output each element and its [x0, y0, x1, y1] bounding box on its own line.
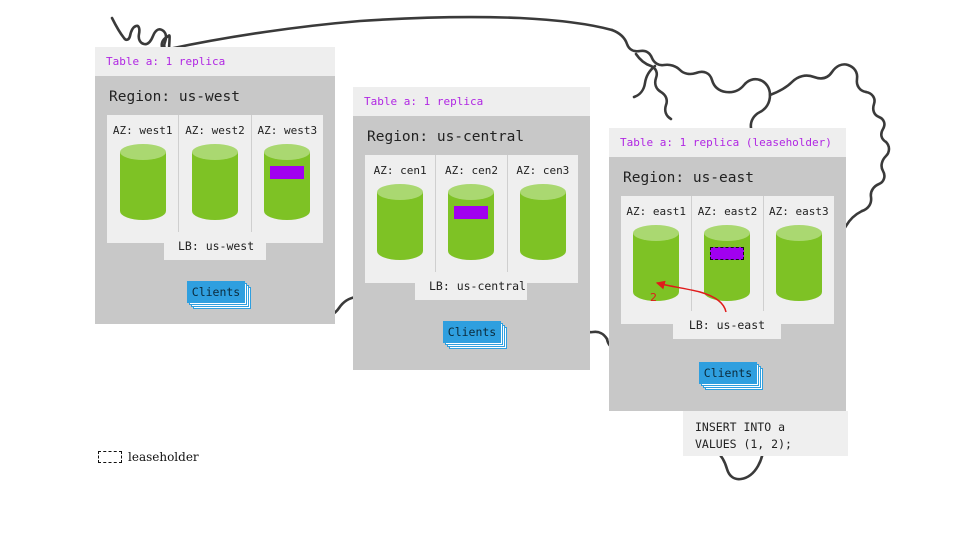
- load-balancer-us-west[interactable]: LB: us-west: [164, 232, 266, 260]
- cylinder-top: [633, 225, 679, 241]
- clients-label-us-central: Clients: [443, 321, 501, 343]
- region-header-us-central: Table a: 1 replica: [353, 87, 590, 116]
- az-cell-west2[interactable]: AZ: west2: [178, 115, 250, 243]
- cylinder-body: [448, 192, 494, 260]
- az-label-west2: AZ: west2: [179, 124, 250, 137]
- cylinder-body: [377, 192, 423, 260]
- node-cylinder-west1[interactable]: [120, 144, 166, 220]
- cylinder-body: [776, 233, 822, 301]
- az-label-east2: AZ: east2: [692, 205, 762, 218]
- region-header-us-west: Table a: 1 replica: [95, 47, 335, 76]
- az-label-west1: AZ: west1: [107, 124, 178, 137]
- az-label-cen3: AZ: cen3: [508, 164, 578, 177]
- cylinder-top: [264, 144, 310, 160]
- replica-bar-cen2: [454, 206, 488, 219]
- region-header-us-east: Table a: 1 replica (leaseholder): [609, 128, 846, 157]
- node-cylinder-east3[interactable]: [776, 225, 822, 301]
- az-label-east3: AZ: east3: [764, 205, 834, 218]
- az-label-east1: AZ: east1: [621, 205, 691, 218]
- az-cell-cen3[interactable]: AZ: cen3: [507, 155, 578, 283]
- az-cell-east3[interactable]: AZ: east3: [763, 196, 834, 324]
- diagram-canvas: Table a: 1 replica Region: us-west AZ: w…: [0, 0, 960, 540]
- az-cell-east1[interactable]: AZ: east1: [621, 196, 691, 324]
- load-balancer-us-central[interactable]: LB: us-central: [415, 272, 527, 300]
- node-cylinder-east2[interactable]: [704, 225, 750, 301]
- az-label-cen1: AZ: cen1: [365, 164, 435, 177]
- az-strip-us-west: AZ: west1 AZ: west2 AZ: west3: [107, 115, 323, 243]
- legend-label: leaseholder: [128, 450, 199, 464]
- node-cylinder-cen2[interactable]: [448, 184, 494, 260]
- az-label-west3: AZ: west3: [252, 124, 323, 137]
- az-cell-west3[interactable]: AZ: west3: [251, 115, 323, 243]
- cylinder-top: [192, 144, 238, 160]
- clients-us-east[interactable]: Clients: [699, 362, 757, 384]
- dashed-rect-swatch-icon: [98, 451, 122, 463]
- node-cylinder-west3[interactable]: [264, 144, 310, 220]
- sql-statement-note: INSERT INTO a VALUES (1, 2);: [683, 411, 848, 456]
- clients-us-central[interactable]: Clients: [443, 321, 501, 343]
- legend-leaseholder: leaseholder: [98, 450, 199, 464]
- az-cell-east2[interactable]: AZ: east2: [691, 196, 762, 324]
- node-cylinder-cen1[interactable]: [377, 184, 423, 260]
- region-title-us-east: Region: us-east: [609, 157, 846, 196]
- cylinder-top: [120, 144, 166, 160]
- az-strip-us-central: AZ: cen1 AZ: cen2 AZ: cen3: [365, 155, 578, 283]
- cylinder-body: [704, 233, 750, 301]
- node-cylinder-west2[interactable]: [192, 144, 238, 220]
- az-strip-us-east: AZ: east1 AZ: east2 AZ: east3: [621, 196, 834, 324]
- az-cell-cen2[interactable]: AZ: cen2: [435, 155, 506, 283]
- clients-label-us-east: Clients: [699, 362, 757, 384]
- node-cylinder-cen3[interactable]: [520, 184, 566, 260]
- cylinder-body: [120, 152, 166, 220]
- cylinder-top: [776, 225, 822, 241]
- cylinder-body: [264, 152, 310, 220]
- node-cylinder-east1[interactable]: [633, 225, 679, 301]
- cylinder-top: [520, 184, 566, 200]
- replica-bar-west3: [270, 166, 304, 179]
- az-cell-west1[interactable]: AZ: west1: [107, 115, 178, 243]
- load-balancer-us-east[interactable]: LB: us-east: [673, 311, 781, 339]
- arrow-step-label-2: 2: [650, 291, 657, 304]
- cylinder-body: [520, 192, 566, 260]
- region-title-us-central: Region: us-central: [353, 116, 590, 155]
- cylinder-body: [192, 152, 238, 220]
- region-title-us-west: Region: us-west: [95, 76, 335, 115]
- replica-bar-leaseholder-east2: [710, 247, 744, 260]
- az-label-cen2: AZ: cen2: [436, 164, 506, 177]
- clients-us-west[interactable]: Clients: [187, 281, 245, 303]
- az-cell-cen1[interactable]: AZ: cen1: [365, 155, 435, 283]
- clients-label-us-west: Clients: [187, 281, 245, 303]
- cylinder-top: [377, 184, 423, 200]
